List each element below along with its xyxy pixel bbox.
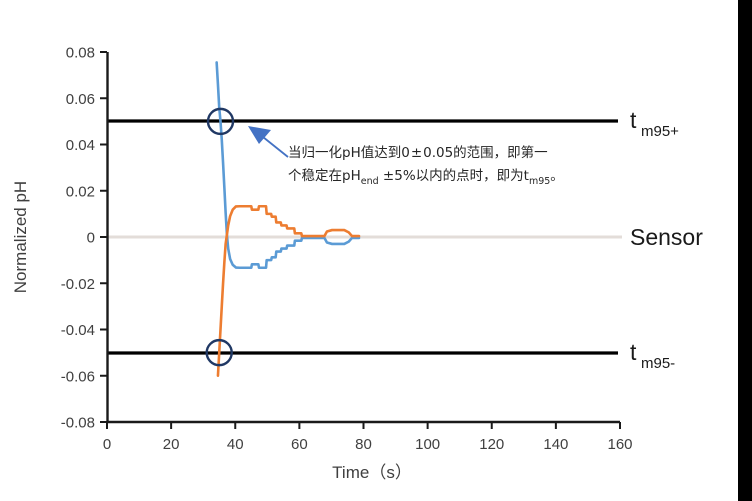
label-tm95-minus: t m95-	[630, 339, 675, 372]
x-tick-label: 140	[543, 436, 568, 453]
y-axis-tick-labels: 0.080.060.040.020-0.02-0.04-0.06-0.08	[61, 45, 95, 432]
annotation-line-1-a: 当归一化pH值达到0	[288, 144, 410, 161]
annotation-line-2-sub-m95: m95	[529, 176, 550, 187]
y-axis-ticks	[100, 52, 107, 422]
annotation-line-2-a: 个稳定在pH	[288, 168, 361, 184]
y-tick-label: 0.08	[66, 45, 95, 62]
y-axis	[100, 52, 108, 422]
annotation-line-1: 当归一化pH值达到0±0.05的范围，即第一	[288, 144, 548, 161]
annotation-line-2-sub-end: end	[361, 176, 379, 187]
y-tick-label: 0.02	[66, 183, 95, 200]
x-tick-label: 160	[607, 436, 632, 453]
y-axis-title: Normalized pH	[11, 181, 30, 293]
x-axis-title: Time（s）	[332, 463, 412, 482]
y-tick-label: 0.06	[66, 91, 95, 108]
label-tm95-plus-base: t	[630, 107, 637, 133]
x-tick-label: 20	[163, 436, 180, 453]
label-sensor: Sensor	[630, 224, 703, 250]
label-tm95-plus: t m95+	[630, 107, 679, 140]
x-tick-label: 80	[355, 436, 372, 453]
y-tick-label: -0.06	[61, 368, 95, 385]
chart-root: 0.080.060.040.020-0.02-0.04-0.06-0.08 02…	[0, 0, 752, 501]
x-axis	[107, 422, 620, 429]
normalized-ph-chart: 0.080.060.040.020-0.02-0.04-0.06-0.08 02…	[0, 0, 752, 501]
annotation-line-2-c: 。	[550, 168, 564, 184]
right-edge-black-band	[738, 0, 752, 501]
annotation-line-1-pm: ±	[411, 145, 422, 161]
x-tick-label: 0	[103, 436, 111, 453]
label-tm95-minus-base: t	[630, 339, 637, 365]
annotation-line-2-b: ±5%以内的点时，即为t	[379, 168, 529, 184]
x-tick-label: 120	[479, 436, 504, 453]
label-tm95-minus-subscript: m95-	[641, 355, 675, 372]
y-tick-label: -0.08	[61, 415, 95, 432]
label-tm95-plus-subscript: m95+	[641, 123, 679, 140]
x-axis-tick-labels: 020406080100120140160	[103, 436, 633, 453]
y-tick-label: -0.04	[61, 322, 95, 339]
x-tick-label: 40	[227, 436, 244, 453]
annotation-line-1-b: 0.05的范围，即第一	[423, 144, 548, 161]
x-tick-label: 60	[291, 436, 308, 453]
y-tick-label: -0.02	[61, 276, 95, 293]
y-tick-label: 0.04	[66, 137, 95, 154]
y-tick-label: 0	[87, 230, 95, 247]
x-tick-label: 100	[415, 436, 440, 453]
